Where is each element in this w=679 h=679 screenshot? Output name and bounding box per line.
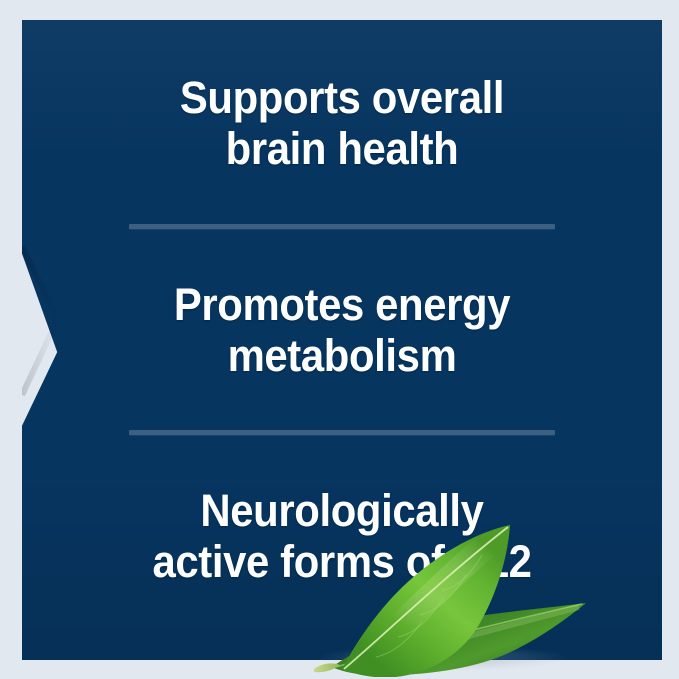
divider-row-2 bbox=[22, 430, 662, 435]
benefits-list: Supports overall brain health Promotes e… bbox=[22, 20, 662, 660]
divider-2 bbox=[129, 430, 555, 435]
divider-1 bbox=[129, 224, 555, 229]
divider-row-1 bbox=[22, 224, 662, 229]
benefit-item-brain-health: Supports overall brain health bbox=[44, 72, 639, 175]
benefit-item-b12-forms: Neurologically active forms of B12 bbox=[44, 485, 639, 588]
benefit-item-energy-metabolism: Promotes energy metabolism bbox=[44, 279, 639, 382]
benefits-panel-image: Supports overall brain health Promotes e… bbox=[0, 0, 679, 679]
